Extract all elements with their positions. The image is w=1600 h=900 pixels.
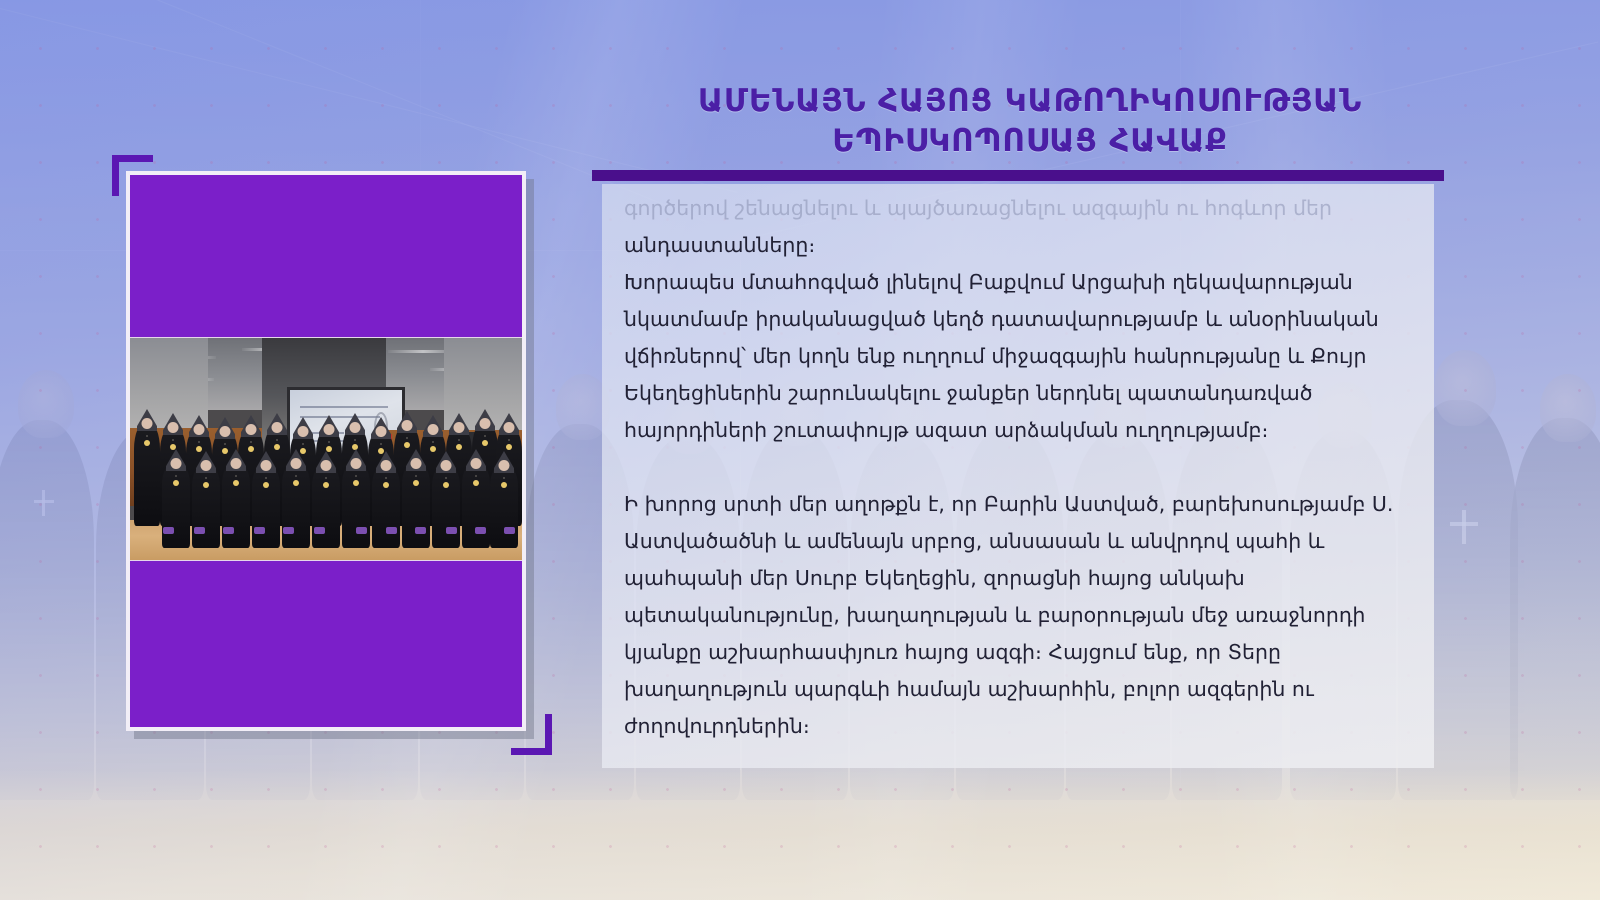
- slide-title-line-2: ԵՊԻՍԿՈՊՈՍԱՑ ՀԱՎԱՔ: [600, 122, 1460, 162]
- slide-title-line-1: ԱՄԵՆԱՅՆ ՀԱՅՈՑ ԿԱԹՈՂԻԿՈՍՈՒԹՅԱՆ: [600, 82, 1460, 122]
- panel-top-accent-bar: [592, 170, 1444, 181]
- panel-body[interactable]: գործերով շենացնելու և պայծառացնելու ազգա…: [602, 184, 1434, 768]
- slide-title: ԱՄԵՆԱՅՆ ՀԱՅՈՑ ԿԱԹՈՂԻԿՈՍՈՒԹՅԱՆ ԵՊԻՍԿՈՊՈՍԱ…: [600, 82, 1460, 161]
- corner-bracket-bottom-right-icon: [511, 714, 552, 755]
- body-paragraph-3: Ի խորոց սրտի մեր աղոթքն է, որ Բարին Աստվ…: [624, 486, 1414, 745]
- photo-scene: [130, 338, 522, 560]
- presentation-slide: ԱՄԵՆԱՅՆ ՀԱՅՈՑ ԿԱԹՈՂԻԿՈՍՈՒԹՅԱՆ ԵՊԻՍԿՈՊՈՍԱ…: [0, 0, 1600, 900]
- body-paragraph-1: անդաստանները։: [624, 227, 1414, 264]
- panel-text-content: գործերով շենացնելու և պայծառացնելու ազգա…: [624, 190, 1414, 745]
- corner-bracket-top-left-icon: [112, 155, 153, 196]
- body-paragraph-2: Խորապես մտահոգված լինելով Բաքվում Արցախի…: [624, 264, 1414, 449]
- group-photo: [130, 337, 522, 561]
- body-clipped-top-line: գործերով շենացնելու և պայծառացնելու ազգա…: [624, 190, 1414, 227]
- photo-front-row: [130, 440, 522, 548]
- image-card-container: [112, 155, 552, 755]
- text-panel: գործերով շենացնելու և պայծառացնելու ազգա…: [592, 170, 1444, 790]
- paragraph-spacer: [624, 449, 1414, 486]
- image-card[interactable]: [126, 171, 526, 731]
